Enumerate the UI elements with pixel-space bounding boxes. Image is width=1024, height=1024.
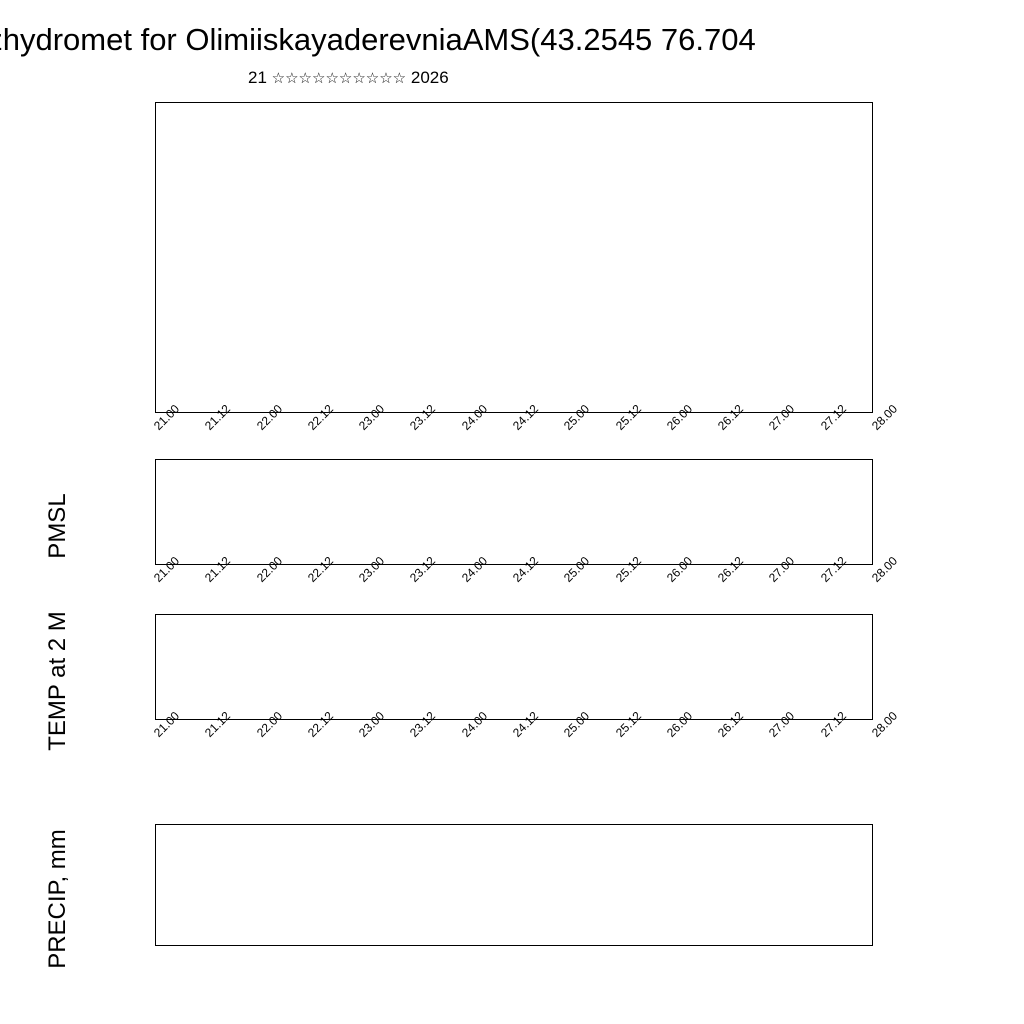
cross-section-x-labels: 21.0021.1222.0022.1223.0023.1224.0024.12… bbox=[155, 417, 873, 461]
x-tick-label: 28.00 bbox=[869, 402, 900, 433]
temp-x-labels: 21.0021.1222.0022.1223.0023.1224.0024.12… bbox=[155, 724, 873, 768]
page-title: azhydromet for OlimiiskayaderevniaAMS(43… bbox=[0, 22, 1024, 58]
temp-axis-label: TEMP at 2 M bbox=[44, 591, 72, 771]
temp-plot-area bbox=[155, 614, 873, 720]
chart-subtitle: 21 ☆☆☆☆☆☆☆☆☆☆ 2026 bbox=[248, 68, 449, 88]
precip-plot-area bbox=[155, 824, 873, 946]
pmsl-line bbox=[156, 460, 872, 565]
pmsl-plot-area bbox=[155, 459, 873, 565]
precip-axis-label: PRECIP, mm bbox=[44, 804, 72, 994]
pmsl-axis-label: PMSL bbox=[44, 466, 72, 586]
subtitle-day: 21 bbox=[248, 68, 267, 87]
subtitle-year: 2026 bbox=[411, 68, 449, 87]
pmsl-x-labels: 21.0021.1222.0022.1223.0023.1224.0024.12… bbox=[155, 569, 873, 613]
wind-barbs-overlay bbox=[156, 103, 873, 413]
x-tick-label: 28.00 bbox=[869, 709, 900, 740]
subtitle-month-glyphs: ☆☆☆☆☆☆☆☆☆☆ bbox=[272, 70, 406, 87]
precip-x-labels bbox=[155, 950, 873, 994]
x-tick-label: 28.00 bbox=[869, 554, 900, 585]
wind-temperature-cross-section bbox=[155, 102, 873, 413]
temp-line bbox=[156, 615, 872, 720]
